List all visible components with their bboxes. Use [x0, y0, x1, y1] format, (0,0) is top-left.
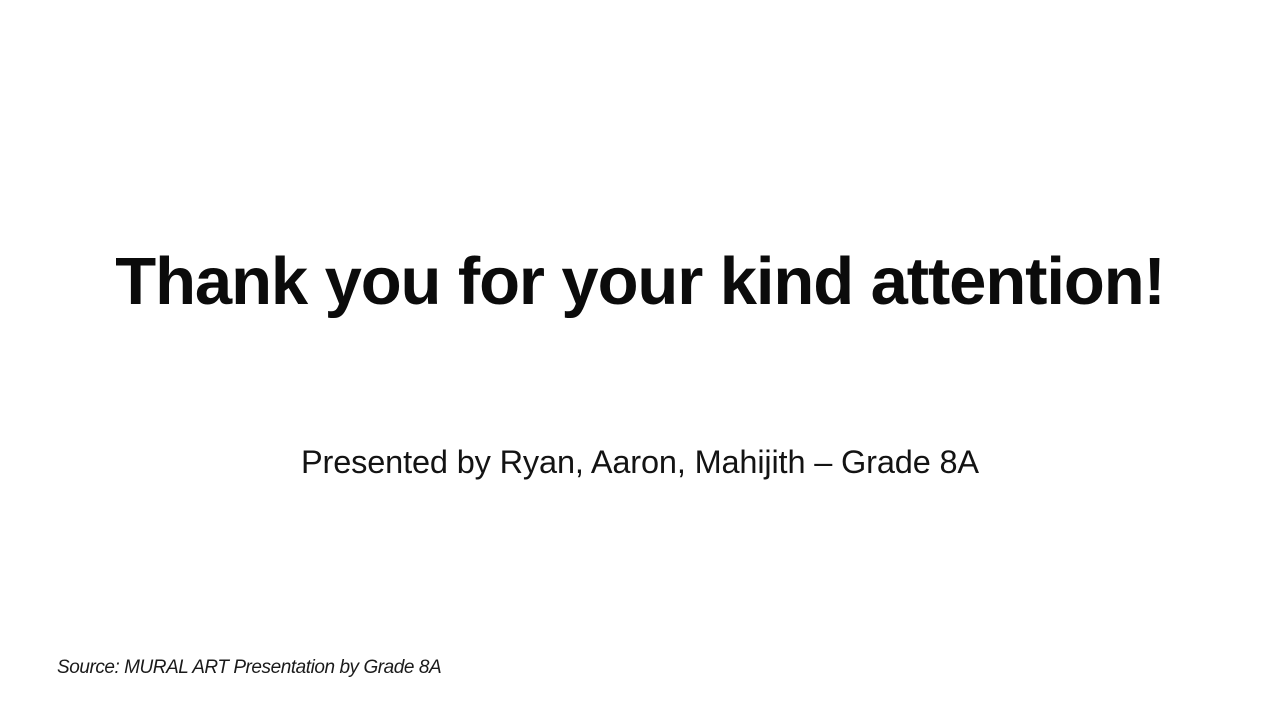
subtitle-block: Presented by Ryan, Aaron, Mahijith – Gra… [0, 440, 1280, 484]
title-block: Thank you for your kind attention! [0, 243, 1280, 321]
slide-subtitle: Presented by Ryan, Aaron, Mahijith – Gra… [0, 440, 1280, 484]
source-attribution: Source: MURAL ART Presentation by Grade … [57, 655, 441, 681]
page-title: Thank you for your kind attention! [0, 243, 1280, 321]
presentation-slide: Thank you for your kind attention! Prese… [0, 0, 1280, 720]
source-block: Source: MURAL ART Presentation by Grade … [57, 655, 757, 681]
